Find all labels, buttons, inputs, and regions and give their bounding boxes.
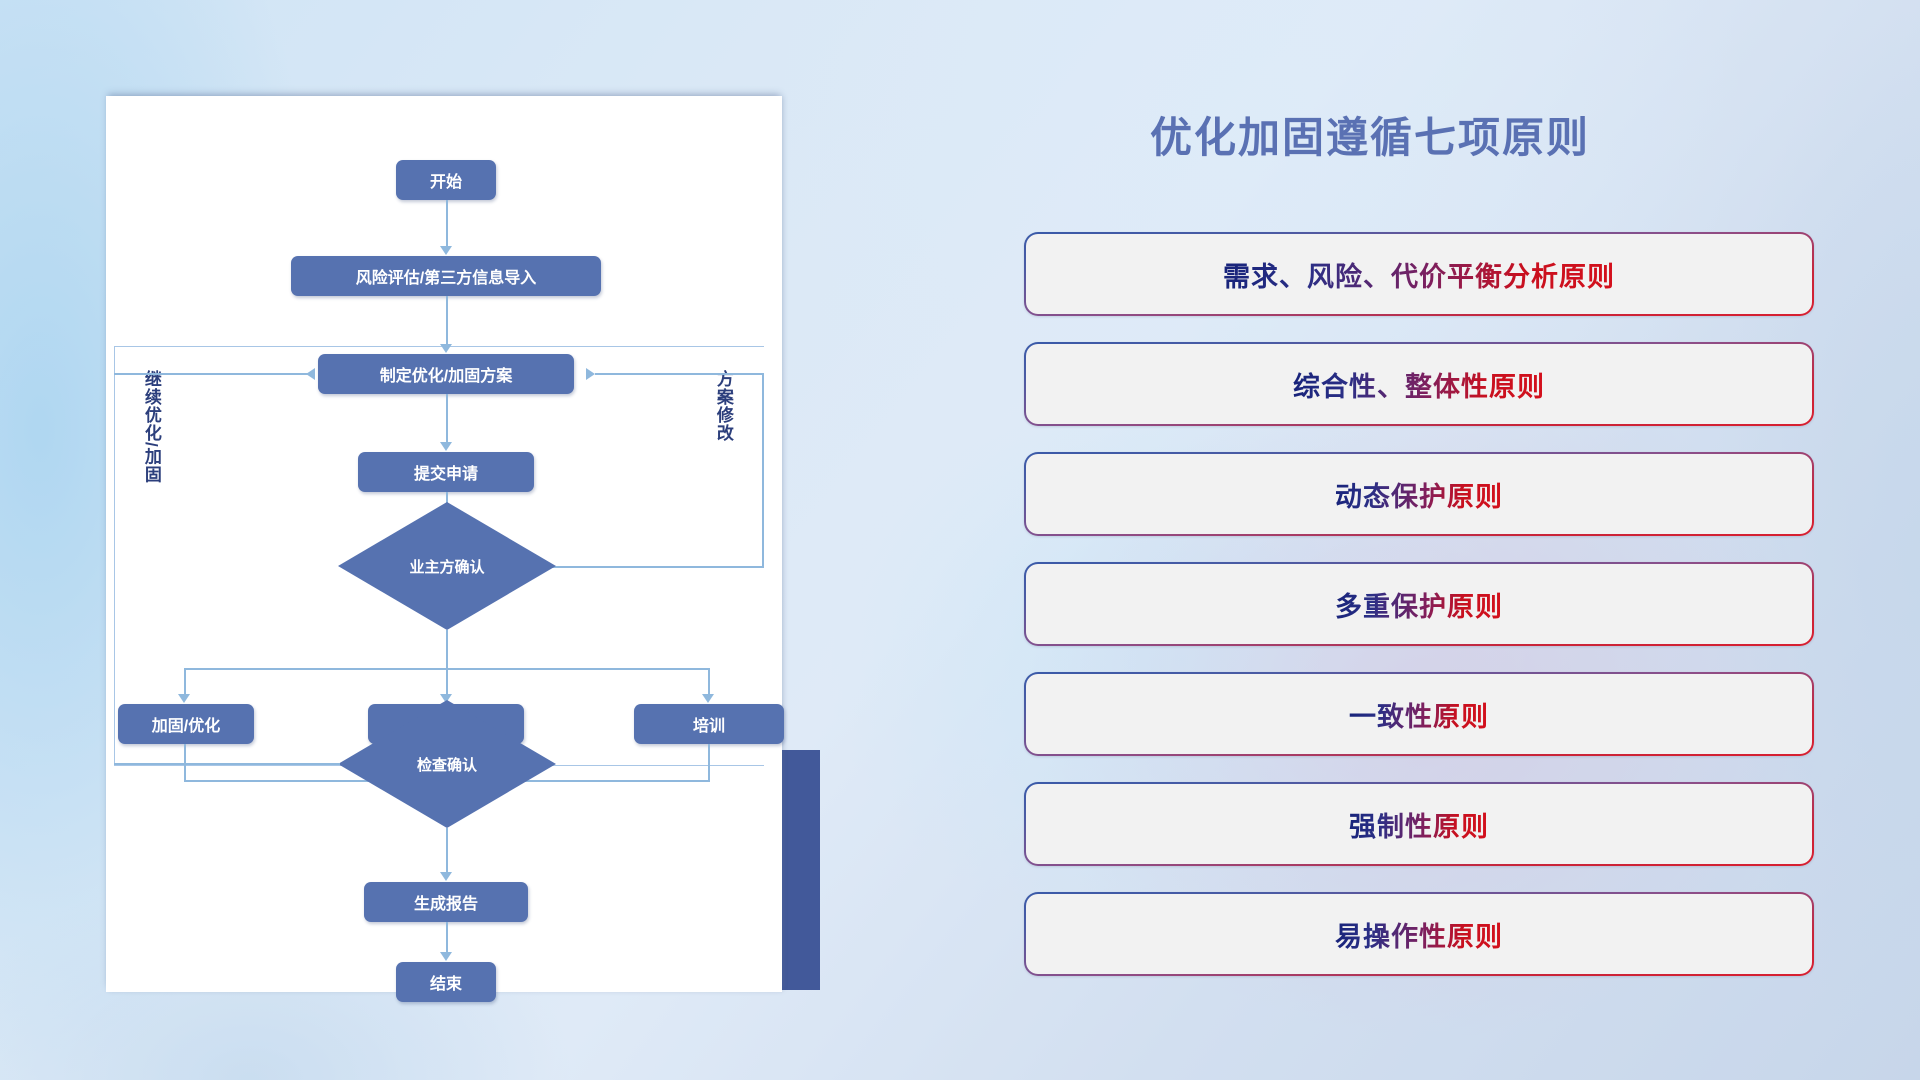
principle-label: 强制性原则: [1349, 805, 1489, 844]
principle-label: 需求、风险、代价平衡分析原则: [1223, 255, 1615, 294]
arrowhead-start-risk: [440, 246, 452, 255]
flow-node-submit-application[interactable]: 提交申请: [358, 452, 534, 492]
flow-node-start[interactable]: 开始: [396, 160, 496, 200]
principles-list: 需求、风险、代价平衡分析原则 综合性、整体性原则 动态保护原则 多重保护原则 一…: [1024, 232, 1814, 1002]
connector-risk-plan: [446, 296, 448, 348]
principle-card[interactable]: 强制性原则: [1024, 782, 1814, 866]
principle-card[interactable]: 动态保护原则: [1024, 452, 1814, 536]
principle-card[interactable]: 综合性、整体性原则: [1024, 342, 1814, 426]
arrowhead-report-end: [440, 952, 452, 961]
principle-card-inner: 易操作性原则: [1026, 894, 1812, 974]
principle-card[interactable]: 易操作性原则: [1024, 892, 1814, 976]
principle-card-inner: 综合性、整体性原则: [1026, 344, 1812, 424]
flow-node-reinforce-optimize[interactable]: 加固/优化: [118, 704, 254, 744]
principle-card[interactable]: 一致性原则: [1024, 672, 1814, 756]
side-label-right: 方案修改: [714, 370, 732, 442]
flow-node-generate-report[interactable]: 生成报告: [364, 882, 528, 922]
flow-node-end[interactable]: 结束: [396, 962, 496, 1002]
principle-card[interactable]: 需求、风险、代价平衡分析原则: [1024, 232, 1814, 316]
arrowhead-risk-plan: [440, 344, 452, 353]
connector-owner-down: [446, 630, 448, 670]
principle-label: 多重保护原则: [1335, 585, 1503, 624]
principle-card-inner: 强制性原则: [1026, 784, 1812, 864]
connector-check-to-left-loop: [114, 763, 340, 765]
principle-label: 动态保护原则: [1335, 475, 1503, 514]
principle-label: 综合性、整体性原则: [1293, 365, 1545, 404]
principle-label: 一致性原则: [1349, 695, 1489, 734]
connector-loop-right-vertical: [762, 373, 764, 568]
arrowhead-plan-submit: [440, 442, 452, 451]
flow-node-training[interactable]: 培训: [634, 704, 784, 744]
principle-card-inner: 需求、风险、代价平衡分析原则: [1026, 234, 1812, 314]
connector-report-end: [446, 922, 448, 956]
principle-label: 易操作性原则: [1335, 915, 1503, 954]
arrowhead-split-left: [178, 694, 190, 703]
arrowhead-loop-right-into-plan: [586, 368, 595, 380]
page-title: 优化加固遵循七项原则: [1150, 104, 1590, 165]
arrowhead-split-right: [702, 694, 714, 703]
side-label-left: 继续优化/加固: [142, 370, 160, 484]
connector-merge-right: [708, 744, 710, 782]
connector-loop-left-into-plan: [114, 373, 308, 375]
connector-plan-submit: [446, 394, 448, 446]
principle-card[interactable]: 多重保护原则: [1024, 562, 1814, 646]
connector-loop-right-into-plan: [595, 373, 764, 375]
principle-card-inner: 一致性原则: [1026, 674, 1812, 754]
flow-node-risk-assessment[interactable]: 风险评估/第三方信息导入: [291, 256, 601, 296]
connector-start-risk: [446, 200, 448, 250]
arrowhead-check-report: [440, 872, 452, 881]
principle-card-inner: 多重保护原则: [1026, 564, 1812, 644]
connector-check-report: [446, 828, 448, 876]
flow-node-make-plan[interactable]: 制定优化/加固方案: [318, 354, 574, 394]
flowchart-card: 继续优化/加固 方案修改 开始 风险评估/第三方信息导入 制定优化/加固方案 提…: [106, 96, 782, 992]
principle-card-inner: 动态保护原则: [1026, 454, 1812, 534]
